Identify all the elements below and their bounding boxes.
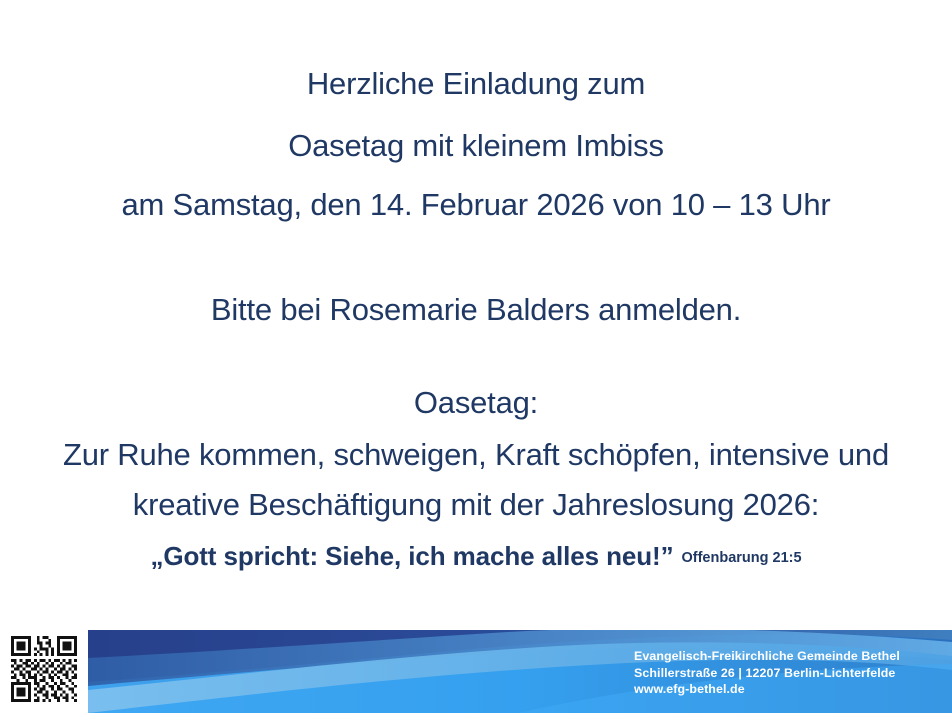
bible-verse-row: „Gott spricht: Siehe, ich mache alles ne… [0,541,952,572]
invitation-line-1: Herzliche Einladung zum [0,66,952,102]
church-cross-logo-icon [577,650,623,696]
brand-lockup: Evangelisch-Freikirchliche Gemeinde Beth… [577,648,900,698]
invitation-line-4-registration: Bitte bei Rosemarie Balders anmelden. [0,292,952,328]
organization-address: Schillerstraße 26 | 12207 Berlin-Lichter… [634,665,900,682]
invitation-line-7-description: kreative Beschäftigung mit der Jahreslos… [0,487,952,523]
bible-verse-reference: Offenbarung 21:5 [682,550,802,566]
qr-code[interactable] [8,633,80,705]
invitation-line-2: Oasetag mit kleinem Imbiss [0,128,952,164]
invitation-line-6-description: Zur Ruhe kommen, schweigen, Kraft schöpf… [0,437,952,473]
flyer-page: Herzliche Einladung zum Oasetag mit klei… [0,0,952,717]
organization-name: Evangelisch-Freikirchliche Gemeinde Beth… [634,648,900,665]
organization-website[interactable]: www.efg-bethel.de [634,681,900,698]
bible-verse-quote: „Gott spricht: Siehe, ich mache alles ne… [150,541,673,571]
invitation-line-5-heading: Oasetag: [0,385,952,421]
invitation-line-3-datetime: am Samstag, den 14. Februar 2026 von 10 … [0,187,952,223]
qr-code-icon [8,633,80,705]
footer-band: Evangelisch-Freikirchliche Gemeinde Beth… [0,616,952,717]
footer-banner: Evangelisch-Freikirchliche Gemeinde Beth… [88,630,952,713]
invitation-text-block: Herzliche Einladung zum Oasetag mit klei… [0,0,952,616]
brand-text-block: Evangelisch-Freikirchliche Gemeinde Beth… [634,648,900,698]
